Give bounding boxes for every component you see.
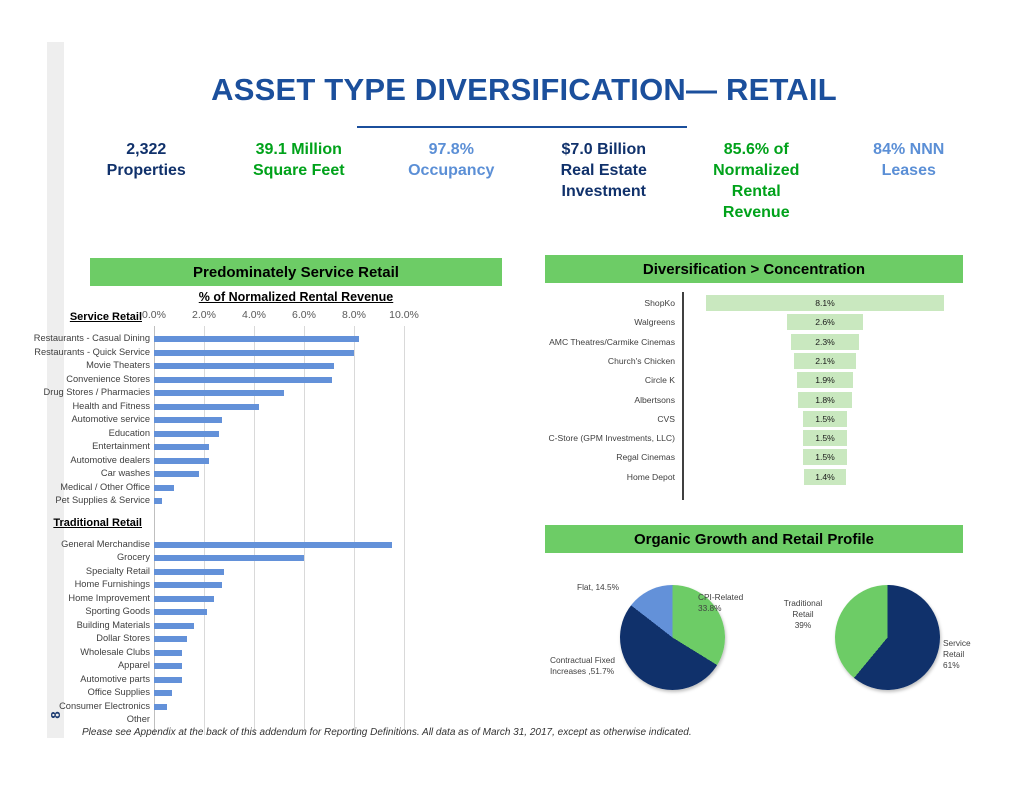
table-row: ShopKo8.1% xyxy=(545,294,965,313)
bar-category-label: Specialty Retail xyxy=(86,566,150,576)
bar-category-label: Restaurants - Quick Service xyxy=(34,347,150,357)
tenant-bar-value: 2.6% xyxy=(815,317,835,327)
bar xyxy=(154,498,162,504)
bar-category-label: Restaurants - Casual Dining xyxy=(34,333,150,343)
bar-category-label: Entertainment xyxy=(92,441,150,451)
table-row: Albertsons1.8% xyxy=(545,391,965,410)
tenant-label: AMC Theatres/Carmike Cinemas xyxy=(545,333,675,352)
bar-category-label: Apparel xyxy=(118,660,150,670)
stat-line: Revenue xyxy=(680,202,833,223)
table-row: C-Store (GPM Investments, LLC)1.5% xyxy=(545,429,965,448)
bar xyxy=(154,623,194,629)
tenant-bar: 1.5% xyxy=(803,449,847,465)
pie-slice-label: TraditionalRetail39% xyxy=(773,598,833,631)
left-chart-plot: 0.0%2.0%4.0%6.0%8.0%10.0% xyxy=(154,326,404,735)
bar-category-label: Dollar Stores xyxy=(96,633,150,643)
tenant-bar: 1.5% xyxy=(803,430,847,446)
x-axis-tick: 10.0% xyxy=(389,309,419,321)
gridline xyxy=(404,326,405,735)
table-row: Walgreens2.6% xyxy=(545,313,965,332)
bar xyxy=(154,704,167,710)
stat-item-1: 39.1 MillionSquare Feet xyxy=(223,139,376,223)
pie-label-line: Service xyxy=(943,638,1003,649)
bar xyxy=(154,471,199,477)
tenant-label: CVS xyxy=(545,410,675,429)
tenant-label: Walgreens xyxy=(545,313,675,332)
panel-header-service-retail: Predominately Service Retail xyxy=(90,258,502,286)
stat-line: Normalized xyxy=(680,160,833,181)
bar xyxy=(154,596,214,602)
table-row: Church's Chicken2.1% xyxy=(545,352,965,371)
gridline xyxy=(204,326,205,735)
pie-label-line: Contractual Fixed xyxy=(550,655,660,666)
bar-category-label: Medical / Other Office xyxy=(60,482,150,492)
tenant-bar-value: 1.9% xyxy=(815,375,835,385)
pie-label-line: 39% xyxy=(773,620,833,631)
pie-slice-label: ServiceRetail61% xyxy=(943,638,1003,671)
bar-category-label: Pet Supplies & Service xyxy=(55,495,150,505)
bar-category-label: Education xyxy=(109,428,150,438)
bar xyxy=(154,336,359,342)
stat-item-2: 97.8%Occupancy xyxy=(375,139,528,223)
pie-disc xyxy=(835,585,940,690)
stat-line: 84% NNN xyxy=(833,139,986,160)
tenant-bar: 1.8% xyxy=(798,392,851,408)
bar xyxy=(154,677,182,683)
stat-line: Investment xyxy=(528,181,681,202)
stat-line: $7.0 Billion xyxy=(528,139,681,160)
tenant-label: Circle K xyxy=(545,371,675,390)
bar xyxy=(154,636,187,642)
tenant-bar-value: 1.4% xyxy=(815,472,835,482)
gridline xyxy=(304,326,305,735)
tenant-bar-value: 1.5% xyxy=(815,433,835,443)
bar xyxy=(154,363,334,369)
pie-label-line: Traditional xyxy=(773,598,833,609)
bar xyxy=(154,609,207,615)
gridline xyxy=(254,326,255,735)
stat-line: Real Estate xyxy=(528,160,681,181)
tenant-bar: 1.9% xyxy=(797,372,853,388)
tenant-bar-value: 2.1% xyxy=(815,356,835,366)
tenant-bar: 1.5% xyxy=(803,411,847,427)
bar xyxy=(154,377,332,383)
panel-header-diversification: Diversification > Concentration xyxy=(545,255,963,283)
gridline xyxy=(154,326,155,735)
tenant-bar-value: 1.5% xyxy=(815,452,835,462)
table-row: Home Depot1.4% xyxy=(545,468,965,487)
tenant-label: ShopKo xyxy=(545,294,675,313)
tenant-label: Albertsons xyxy=(545,391,675,410)
retail-profile-pie xyxy=(835,585,940,690)
bar xyxy=(154,542,392,548)
page-title: ASSET TYPE DIVERSIFICATION— RETAIL xyxy=(64,72,984,108)
stat-line: 39.1 Million xyxy=(223,139,376,160)
tenant-bar: 2.6% xyxy=(787,314,864,330)
stats-row: 2,322Properties39.1 MillionSquare Feet97… xyxy=(70,139,985,223)
tenant-bar-value: 8.1% xyxy=(815,298,835,308)
stat-item-4: 85.6% ofNormalizedRentalRevenue xyxy=(680,139,833,223)
footer-note: Please see Appendix at the back of this … xyxy=(82,727,932,738)
tenant-bar: 2.1% xyxy=(794,353,856,369)
pie-label-line: Increases ,51.7% xyxy=(550,666,660,677)
table-row: Circle K1.9% xyxy=(545,371,965,390)
bar xyxy=(154,555,304,561)
x-axis-tick: 8.0% xyxy=(342,309,366,321)
bar xyxy=(154,569,224,575)
stat-item-5: 84% NNNLeases xyxy=(833,139,986,223)
bar-category-label: Wholesale Clubs xyxy=(80,647,150,657)
table-row: CVS1.5% xyxy=(545,410,965,429)
bar-category-label: Drug Stores / Pharmacies xyxy=(44,387,150,397)
x-axis-tick: 4.0% xyxy=(242,309,266,321)
tenant-label: Regal Cinemas xyxy=(545,448,675,467)
panel-header-organic-growth: Organic Growth and Retail Profile xyxy=(545,525,963,553)
stat-line: Properties xyxy=(70,160,223,181)
pie-label-line: Retail xyxy=(773,609,833,620)
pies-container: Flat, 14.5%CPI-Related33.8%Contractual F… xyxy=(545,560,965,720)
tenant-bar-value: 2.3% xyxy=(815,337,835,347)
stat-line: Occupancy xyxy=(375,160,528,181)
bar xyxy=(154,690,172,696)
bar-category-label: Automotive parts xyxy=(80,674,150,684)
bar-group-heading: Traditional Retail xyxy=(53,517,142,529)
bar-category-label: Home Improvement xyxy=(68,593,150,603)
stat-item-3: $7.0 BillionReal EstateInvestment xyxy=(528,139,681,223)
x-axis-tick: 2.0% xyxy=(192,309,216,321)
bar xyxy=(154,404,259,410)
table-row: Regal Cinemas1.5% xyxy=(545,448,965,467)
tenant-bar: 2.3% xyxy=(791,334,859,350)
bar-group-heading: Service Retail xyxy=(70,311,142,323)
tenant-bar: 1.4% xyxy=(804,469,845,485)
pie-label-line: Flat, 14.5% xyxy=(577,582,667,593)
bar xyxy=(154,390,284,396)
bar xyxy=(154,350,354,356)
tenant-bar-value: 1.8% xyxy=(815,395,835,405)
stat-line: 97.8% xyxy=(375,139,528,160)
stat-line: Square Feet xyxy=(223,160,376,181)
table-row: AMC Theatres/Carmike Cinemas2.3% xyxy=(545,333,965,352)
bar-category-label: Automotive dealers xyxy=(70,455,150,465)
slide-root: 8 ASSET TYPE DIVERSIFICATION— RETAIL 2,3… xyxy=(0,0,1034,799)
bar xyxy=(154,444,209,450)
bar-category-label: Home Furnishings xyxy=(75,579,150,589)
stat-line: Rental xyxy=(680,181,833,202)
bar-category-label: General Merchandise xyxy=(61,539,150,549)
bar-category-label: Convenience Stores xyxy=(66,374,150,384)
x-axis-tick: 0.0% xyxy=(142,309,166,321)
gridline xyxy=(354,326,355,735)
pie-slice-label: Flat, 14.5% xyxy=(577,582,667,593)
bar xyxy=(154,663,182,669)
left-chart-label-column: Service RetailRestaurants - Casual Dinin… xyxy=(0,326,150,735)
bar xyxy=(154,650,182,656)
stat-line: 85.6% of xyxy=(680,139,833,160)
bar xyxy=(154,417,222,423)
bar-category-label: Other xyxy=(127,714,150,724)
bar xyxy=(154,582,222,588)
bar xyxy=(154,431,219,437)
tenant-label: C-Store (GPM Investments, LLC) xyxy=(545,429,675,448)
bar-category-label: Consumer Electronics xyxy=(59,701,150,711)
stat-line: 2,322 xyxy=(70,139,223,160)
stat-item-0: 2,322Properties xyxy=(70,139,223,223)
bar-category-label: Movie Theaters xyxy=(86,360,150,370)
bar xyxy=(154,458,209,464)
left-chart-axis-title: % of Normalized Rental Revenue xyxy=(90,290,502,304)
x-axis-tick: 6.0% xyxy=(292,309,316,321)
bar-category-label: Car washes xyxy=(101,468,150,478)
bar-category-label: Sporting Goods xyxy=(85,606,150,616)
tenant-bar-value: 1.5% xyxy=(815,414,835,424)
tenant-label: Home Depot xyxy=(545,468,675,487)
stat-line: Leases xyxy=(833,160,986,181)
tenant-bar: 8.1% xyxy=(706,295,945,311)
pie-label-line: 61% xyxy=(943,660,1003,671)
bar-category-label: Automotive service xyxy=(71,414,150,424)
bar xyxy=(154,485,174,491)
bar-category-label: Office Supplies xyxy=(88,687,150,697)
bar-category-label: Health and Fitness xyxy=(72,401,150,411)
pie-slice-label: Contractual FixedIncreases ,51.7% xyxy=(550,655,660,677)
diversification-chart: ShopKo8.1%Walgreens2.6%AMC Theatres/Carm… xyxy=(545,292,965,507)
title-divider xyxy=(357,126,687,128)
bar-category-label: Building Materials xyxy=(77,620,150,630)
tenant-label: Church's Chicken xyxy=(545,352,675,371)
pie-label-line: Retail xyxy=(943,649,1003,660)
bar-category-label: Grocery xyxy=(117,552,150,562)
